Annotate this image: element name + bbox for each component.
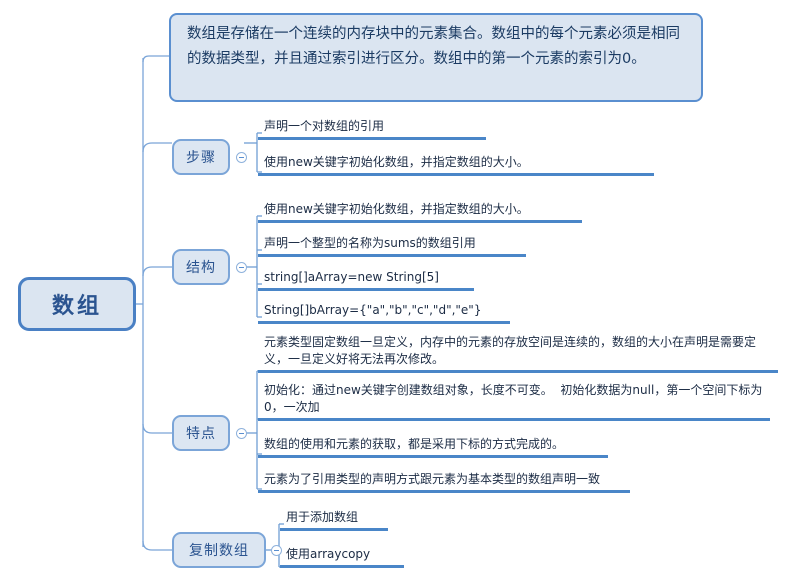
leaf-underline bbox=[258, 288, 474, 291]
leaf-item[interactable]: 使用new关键字初始化数组，并指定数组的大小。 bbox=[258, 154, 654, 176]
branch-label-structure: 结构 bbox=[186, 257, 216, 277]
leaf-text: 使用new关键字初始化数组，并指定数组的大小。 bbox=[258, 154, 654, 172]
branch-node-steps[interactable]: 步骤 bbox=[172, 139, 230, 175]
leaf-text: 元素为了引用类型的声明方式跟元素为基本类型的数组声明一致 bbox=[258, 471, 630, 489]
collapse-minus-icon-steps[interactable] bbox=[236, 152, 247, 163]
leaf-item[interactable]: 用于添加数组 bbox=[280, 509, 388, 531]
leaf-underline bbox=[280, 565, 404, 568]
leaf-text: String[]bArray={"a","b","c","d","e"} bbox=[258, 302, 510, 320]
leaf-item[interactable]: 使用arraycopy bbox=[280, 546, 404, 568]
leaf-text: 数组的使用和元素的获取，都是采用下标的方式完成的。 bbox=[258, 436, 608, 454]
leaf-underline bbox=[258, 321, 510, 324]
leaf-text: 声明一个整型的名称为sums的数组引用 bbox=[258, 235, 526, 253]
root-node[interactable]: 数组 bbox=[18, 277, 136, 331]
leaf-item[interactable]: string[]aArray=new String[5] bbox=[258, 269, 474, 291]
leaf-underline bbox=[258, 220, 582, 223]
root-node-label: 数组 bbox=[52, 288, 102, 320]
leaf-text: 用于添加数组 bbox=[280, 509, 388, 527]
description-text: 数组是存储在一个连续的内存块中的元素集合。数组中的每个元素必须是相同的数据类型，… bbox=[187, 26, 680, 67]
leaf-underline bbox=[258, 137, 486, 140]
leaf-item[interactable]: 使用new关键字初始化数组，并指定数组的大小。 bbox=[258, 201, 582, 223]
leaf-underline bbox=[258, 254, 526, 257]
branch-label-features: 特点 bbox=[186, 423, 216, 443]
branch-node-copy-array[interactable]: 复制数组 bbox=[172, 532, 266, 568]
leaf-item[interactable]: 元素类型固定数组一旦定义，内存中的元素的存放空间是连续的，数组的大小在声明是需要… bbox=[258, 334, 778, 373]
leaf-text: 初始化：通过new关键字创建数组对象，长度不可变。 初始化数据为null，第一个… bbox=[258, 382, 770, 417]
leaf-text: string[]aArray=new String[5] bbox=[258, 269, 474, 287]
leaf-underline bbox=[258, 418, 770, 421]
leaf-underline bbox=[258, 370, 778, 373]
leaf-item[interactable]: 初始化：通过new关键字创建数组对象，长度不可变。 初始化数据为null，第一个… bbox=[258, 382, 770, 421]
leaf-item[interactable]: 声明一个对数组的引用 bbox=[258, 118, 486, 140]
leaf-text: 使用new关键字初始化数组，并指定数组的大小。 bbox=[258, 201, 582, 219]
leaf-underline bbox=[280, 528, 388, 531]
leaf-item[interactable]: 元素为了引用类型的声明方式跟元素为基本类型的数组声明一致 bbox=[258, 471, 630, 493]
leaf-underline bbox=[258, 173, 654, 176]
leaf-text: 声明一个对数组的引用 bbox=[258, 118, 486, 136]
leaf-item[interactable]: String[]bArray={"a","b","c","d","e"} bbox=[258, 302, 510, 324]
branch-label-copy-array: 复制数组 bbox=[189, 540, 249, 560]
branch-node-structure[interactable]: 结构 bbox=[172, 249, 230, 285]
mindmap-canvas: 数组 数组是存储在一个连续的内存块中的元素集合。数组中的每个元素必须是相同的数据… bbox=[0, 0, 792, 584]
leaf-text: 使用arraycopy bbox=[280, 546, 404, 564]
leaf-item[interactable]: 声明一个整型的名称为sums的数组引用 bbox=[258, 235, 526, 257]
branch-label-steps: 步骤 bbox=[186, 147, 216, 167]
leaf-item[interactable]: 数组的使用和元素的获取，都是采用下标的方式完成的。 bbox=[258, 436, 608, 458]
collapse-minus-icon-features[interactable] bbox=[236, 428, 247, 439]
branch-node-features[interactable]: 特点 bbox=[172, 415, 230, 451]
collapse-minus-icon-structure[interactable] bbox=[236, 262, 247, 273]
leaf-underline bbox=[258, 455, 608, 458]
leaf-underline bbox=[258, 490, 630, 493]
leaf-text: 元素类型固定数组一旦定义，内存中的元素的存放空间是连续的，数组的大小在声明是需要… bbox=[258, 334, 778, 369]
description-callout[interactable]: 数组是存储在一个连续的内存块中的元素集合。数组中的每个元素必须是相同的数据类型，… bbox=[169, 13, 703, 102]
